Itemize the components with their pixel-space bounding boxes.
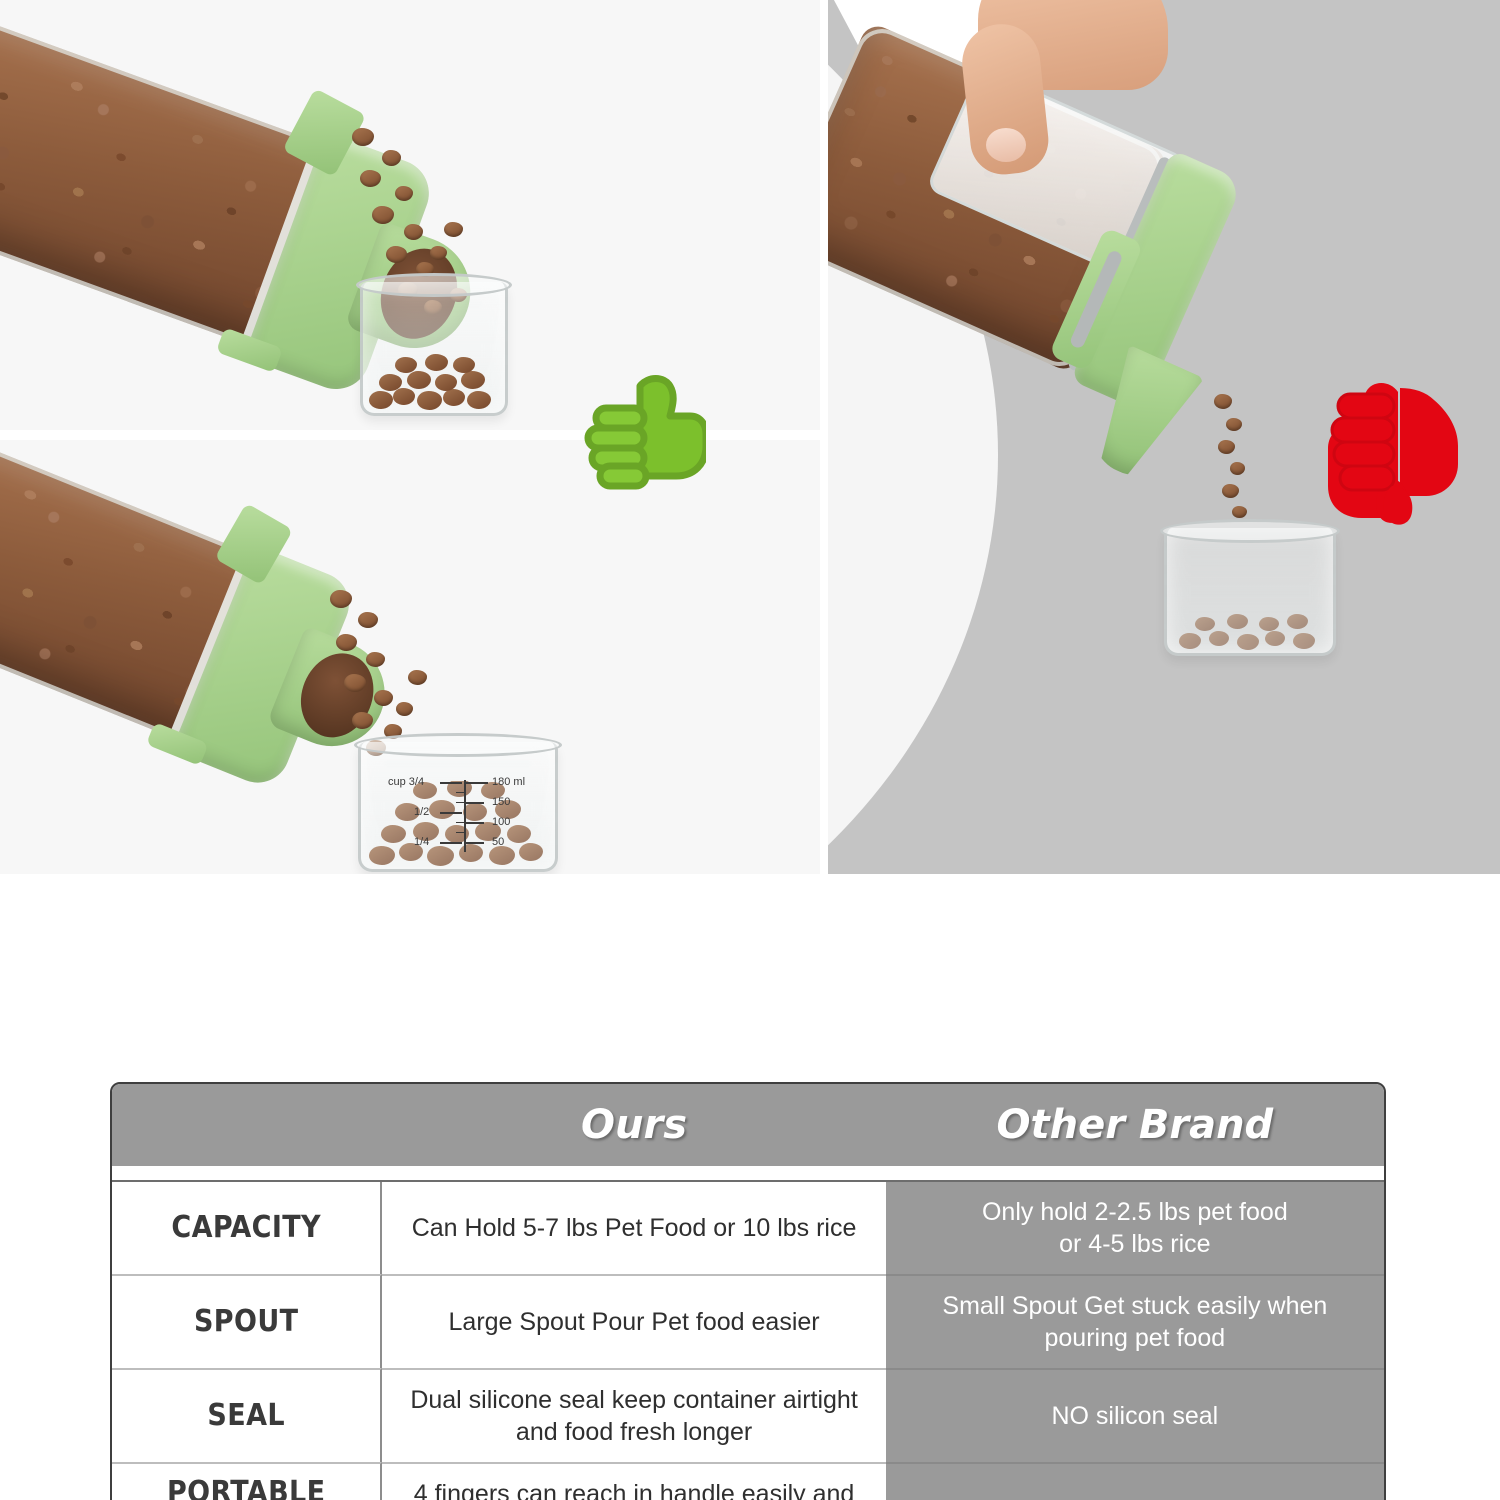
clear-cup bbox=[360, 282, 508, 416]
scale-tick-minor bbox=[456, 832, 466, 833]
kibble-piece bbox=[425, 354, 448, 371]
row-ours-spout: Large Spout Pour Pet food easier bbox=[382, 1274, 885, 1368]
row-other-portable-handle: ONLY2-3 fingers can reach in handle bbox=[886, 1462, 1384, 1500]
kibble-piece bbox=[1259, 617, 1279, 631]
header-label-other-brand: Other Brand bbox=[996, 1102, 1273, 1148]
photo-panel-top-left bbox=[0, 0, 820, 430]
gap-cell bbox=[382, 1166, 885, 1182]
kibble-piece bbox=[1237, 634, 1259, 650]
row-other-capacity: Only hold 2-2.5 lbs pet foodor 4-5 lbs r… bbox=[886, 1182, 1384, 1274]
table-header-gap bbox=[112, 1166, 1384, 1182]
table-row: CAPACITY Can Hold 5-7 lbs Pet Food or 10… bbox=[112, 1182, 1384, 1274]
scale-tick-minor bbox=[456, 802, 466, 803]
scale-tick bbox=[466, 822, 484, 824]
cup-rim bbox=[1160, 519, 1340, 543]
cup-kibble-fill bbox=[365, 353, 503, 411]
kibble-piece bbox=[374, 690, 393, 706]
scale-tick-minor bbox=[456, 792, 466, 793]
photo-panel-bottom-left: cup 3/4 1/2 1/4 180 ml 150 100 50 bbox=[0, 440, 820, 880]
scale-label-quarter: 1/4 bbox=[414, 836, 429, 848]
kibble-piece bbox=[1218, 440, 1235, 454]
kibble-piece bbox=[1179, 633, 1201, 649]
kibble-piece bbox=[1227, 614, 1248, 629]
kibble-piece bbox=[1209, 631, 1229, 646]
table-header-row: Ours Other Brand bbox=[112, 1084, 1384, 1166]
row-ours-portable-handle: 4 fingers can reach in handle easily and… bbox=[382, 1462, 885, 1500]
kibble-piece bbox=[1195, 617, 1215, 631]
heading-section: How To Choose A Good Portable PET FOOD C… bbox=[0, 890, 1500, 1060]
table-row: PORTABLEHANDLE 4 fingers can reach in ha… bbox=[112, 1462, 1384, 1500]
row-other-seal: NO silicon seal bbox=[886, 1368, 1384, 1462]
kibble-piece bbox=[1222, 484, 1239, 498]
hand-grip bbox=[938, 0, 1168, 200]
cup-rim bbox=[356, 273, 512, 297]
table-row: SEAL Dual silicone seal keep container a… bbox=[112, 1368, 1384, 1462]
pet-food-container-large-spout-2 bbox=[0, 440, 371, 797]
row-other-spout: Small Spout Get stuck easily whenpouring… bbox=[886, 1274, 1384, 1368]
kibble-piece bbox=[393, 388, 415, 405]
cup-rim bbox=[354, 733, 562, 757]
gap-cell bbox=[886, 1166, 1384, 1182]
row-label-seal: SEAL bbox=[112, 1368, 382, 1462]
measuring-cup-scale: cup 3/4 1/2 1/4 180 ml 150 100 50 bbox=[388, 776, 548, 866]
kibble-piece bbox=[369, 391, 393, 409]
header-cell-other-brand: Other Brand bbox=[886, 1084, 1384, 1166]
scale-tick bbox=[466, 782, 488, 784]
comparison-table: Ours Other Brand CAPACITY Can Hold 5-7 l… bbox=[110, 1082, 1386, 1500]
kibble-piece bbox=[1214, 394, 1232, 409]
kibble-piece bbox=[1287, 614, 1308, 629]
header-cell-ours: Ours bbox=[382, 1084, 885, 1166]
kibble-piece bbox=[352, 128, 374, 146]
row-label-spout: SPOUT bbox=[112, 1274, 382, 1368]
scale-tick bbox=[440, 842, 462, 844]
gap-cell bbox=[112, 1166, 382, 1182]
kibble-piece bbox=[1232, 506, 1247, 518]
scale-label-150: 150 bbox=[492, 796, 510, 808]
fingernail bbox=[986, 128, 1026, 162]
row-label-portable-handle: PORTABLEHANDLE bbox=[112, 1462, 382, 1500]
scale-label-cup-three-quarter: cup 3/4 bbox=[388, 776, 424, 788]
scale-tick-minor bbox=[456, 822, 466, 823]
kibble-piece bbox=[407, 371, 431, 389]
cup-kibble-fill bbox=[1169, 613, 1331, 651]
kibble-piece bbox=[408, 670, 427, 685]
row-ours-capacity: Can Hold 5-7 lbs Pet Food or 10 lbs rice bbox=[382, 1182, 885, 1274]
kibble-piece bbox=[1226, 418, 1242, 431]
other-brand-measuring-cup bbox=[1164, 528, 1336, 656]
panel-divider-vertical bbox=[820, 0, 828, 880]
scale-label-180ml: 180 ml bbox=[492, 776, 525, 788]
table-row: SPOUT Large Spout Pour Pet food easier S… bbox=[112, 1274, 1384, 1368]
row-label-capacity: CAPACITY bbox=[112, 1182, 382, 1274]
header-label-ours: Ours bbox=[581, 1102, 687, 1148]
kibble-piece bbox=[1265, 631, 1285, 646]
scale-label-100: 100 bbox=[492, 816, 510, 828]
scale-tick bbox=[440, 812, 462, 814]
kibble-piece bbox=[396, 702, 413, 716]
header-cell-blank bbox=[112, 1084, 382, 1166]
photo-section-bottom-edge bbox=[0, 874, 1500, 882]
photo-section: cup 3/4 1/2 1/4 180 ml 150 100 50 bbox=[0, 0, 1500, 880]
kibble-piece bbox=[1230, 462, 1245, 475]
thumbs-down-icon bbox=[1326, 378, 1466, 526]
kibble-piece bbox=[417, 391, 442, 410]
kibble-piece bbox=[443, 389, 465, 406]
scale-label-50: 50 bbox=[492, 836, 504, 848]
scale-tick bbox=[466, 842, 484, 844]
row-ours-seal: Dual silicone seal keep container airtig… bbox=[382, 1368, 885, 1462]
kibble-piece bbox=[1293, 633, 1315, 649]
kibble-piece bbox=[358, 612, 378, 628]
kibble-piece bbox=[444, 222, 463, 237]
thumbs-up-icon bbox=[578, 372, 706, 490]
scale-tick bbox=[466, 802, 484, 804]
scale-tick bbox=[440, 782, 462, 784]
scale-label-half: 1/2 bbox=[414, 806, 429, 818]
product-comparison-infographic: cup 3/4 1/2 1/4 180 ml 150 100 50 bbox=[0, 0, 1500, 1500]
kibble-piece bbox=[467, 391, 491, 409]
kibble-piece bbox=[461, 371, 485, 389]
kibble-piece bbox=[366, 652, 385, 667]
